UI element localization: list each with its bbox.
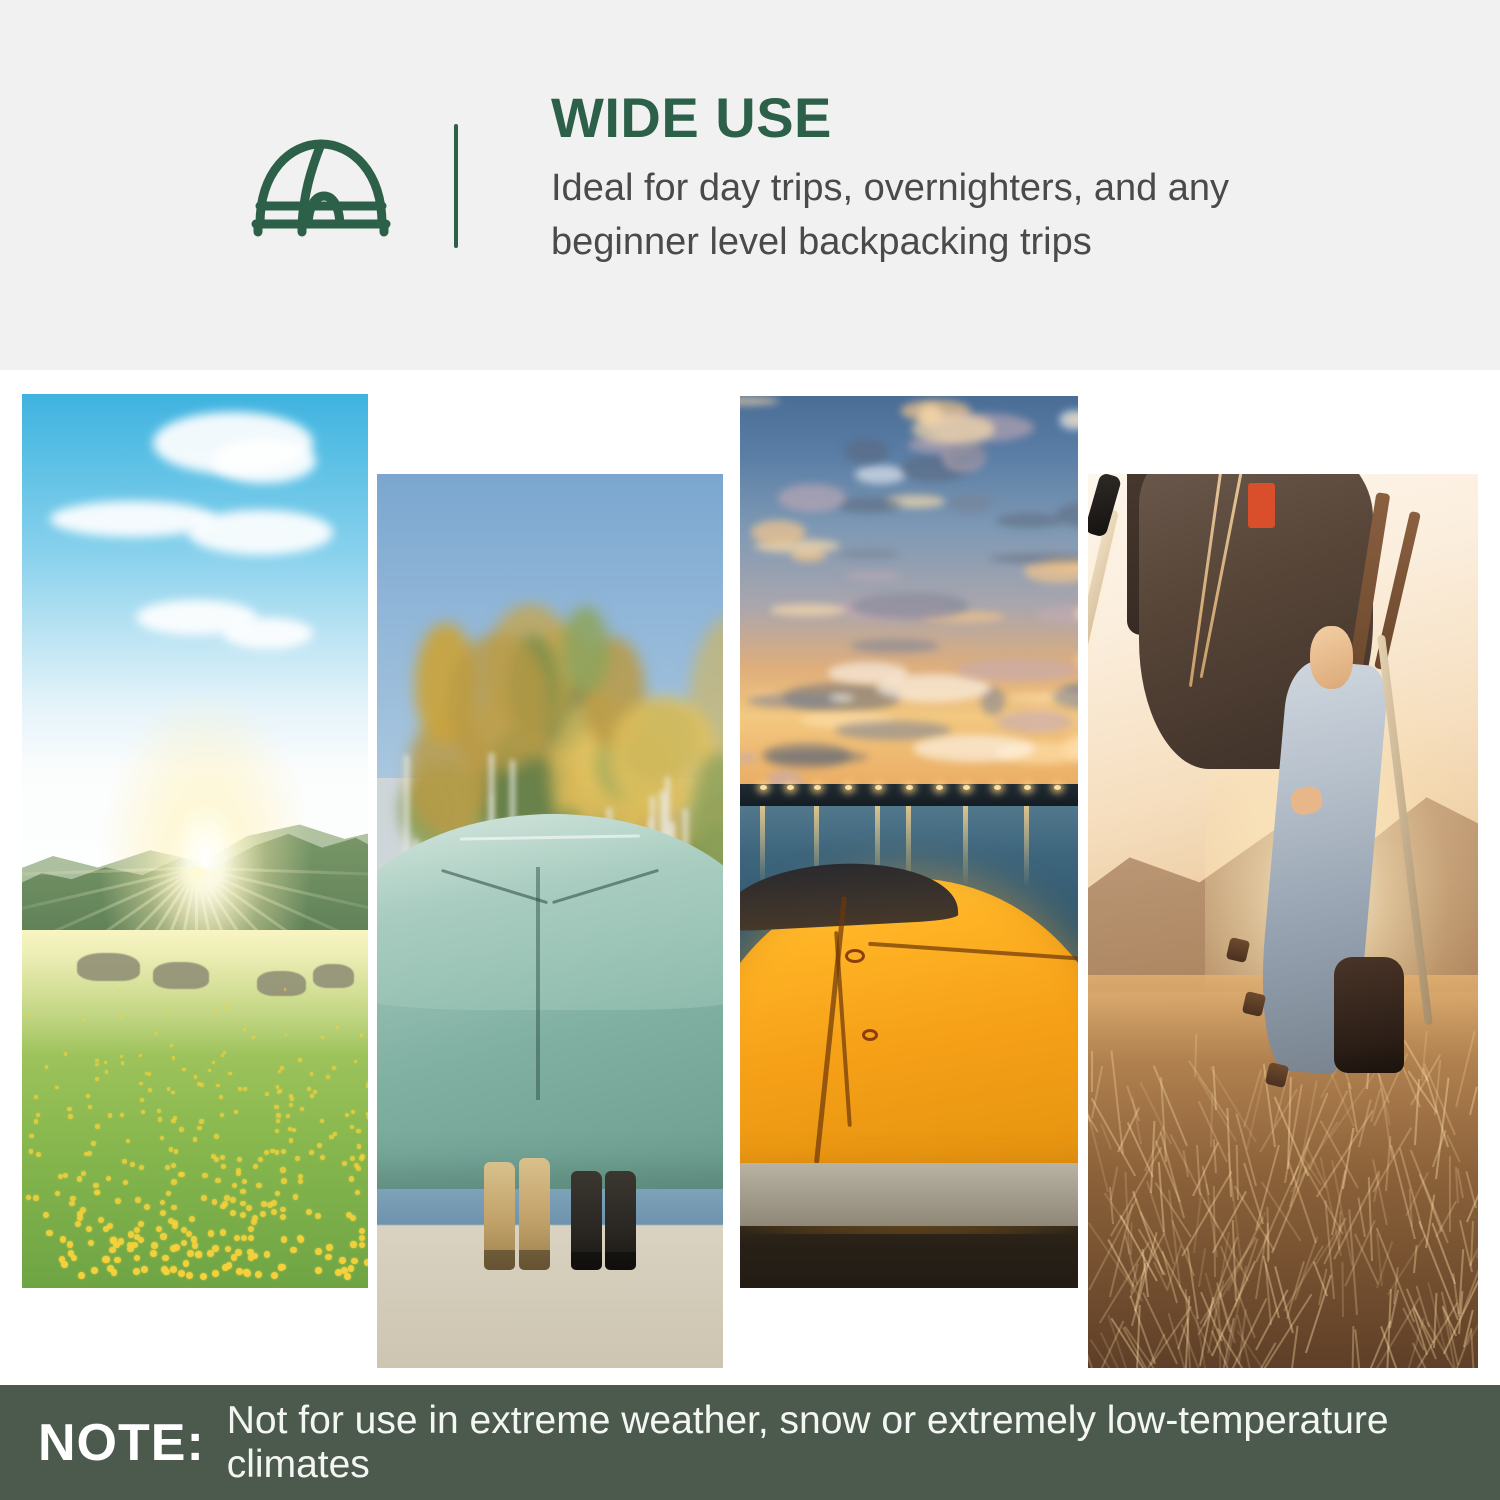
gallery-photo-hiker-with-trekking-poles	[1088, 474, 1478, 1368]
header-text-block: WIDE USE Ideal for day trips, overnighte…	[551, 88, 1431, 270]
page-title: WIDE USE	[551, 88, 1431, 148]
header-subtitle-line-2: beginner level backpacking trips	[551, 216, 1431, 270]
feature-header-band: WIDE USE Ideal for day trips, overnighte…	[0, 0, 1500, 370]
photo-gallery-strip	[0, 370, 1500, 1385]
gallery-photo-mountain-sunrise-meadow	[22, 394, 368, 1288]
scene-artwork	[740, 396, 1078, 1288]
scene-artwork	[1088, 474, 1478, 1368]
note-disclaimer-bar: NOTE: Not for use in extreme weather, sn…	[0, 1385, 1500, 1500]
header-content: WIDE USE Ideal for day trips, overnighte…	[0, 0, 1500, 370]
scene-artwork	[22, 394, 368, 1288]
gallery-photo-green-dome-tent-with-boots	[377, 474, 723, 1368]
header-divider	[454, 124, 458, 248]
note-label: NOTE:	[38, 1413, 205, 1473]
gallery-photo-orange-tent-lakeside-sunset	[740, 396, 1078, 1288]
scene-artwork	[377, 474, 723, 1368]
dome-tent-icon	[246, 128, 396, 248]
header-subtitle-line-1: Ideal for day trips, overnighters, and a…	[551, 162, 1431, 216]
note-text: Not for use in extreme weather, snow or …	[227, 1399, 1500, 1487]
header-subtitle: Ideal for day trips, overnighters, and a…	[551, 162, 1431, 270]
